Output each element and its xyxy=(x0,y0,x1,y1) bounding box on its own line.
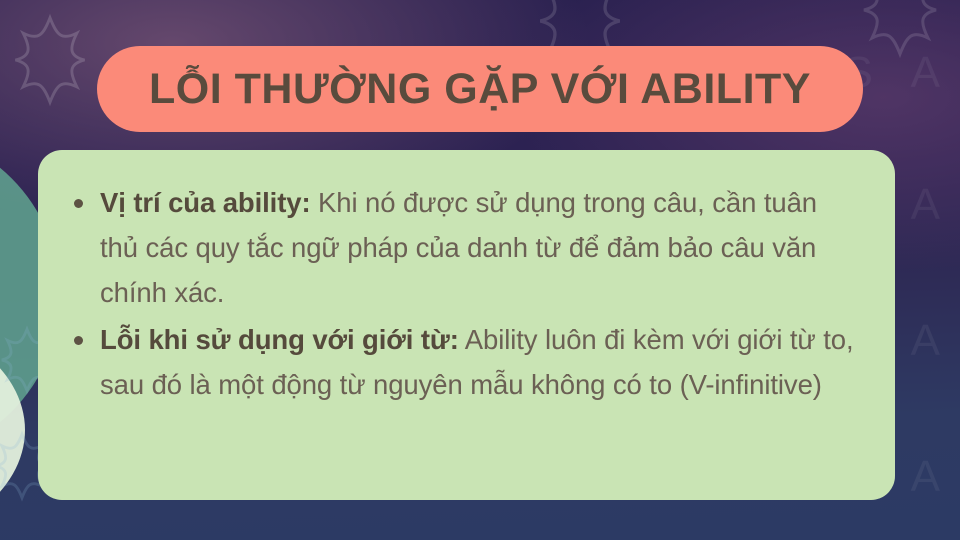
bullet-list: Vị trí của ability: Khi nó được sử dụng … xyxy=(60,180,861,407)
slide-canvas: S A S A S A S A LỖI THƯỜNG GẶP VỚI ABILI… xyxy=(0,0,960,540)
list-item: Vị trí của ability: Khi nó được sử dụng … xyxy=(60,180,861,315)
content-card: Vị trí của ability: Khi nó được sử dụng … xyxy=(38,150,895,500)
list-item: Lỗi khi sử dụng với giới từ: Ability luô… xyxy=(60,317,861,407)
cream-crescent-shape xyxy=(0,315,25,540)
list-item-lead: Lỗi khi sử dụng với giới từ: xyxy=(100,324,459,355)
flower-star-icon xyxy=(2,12,98,108)
list-item-lead: Vị trí của ability: xyxy=(100,187,311,218)
title-banner: LỖI THƯỜNG GẶP VỚI ABILITY xyxy=(97,46,863,132)
page-title: LỖI THƯỜNG GẶP VỚI ABILITY xyxy=(149,68,811,111)
